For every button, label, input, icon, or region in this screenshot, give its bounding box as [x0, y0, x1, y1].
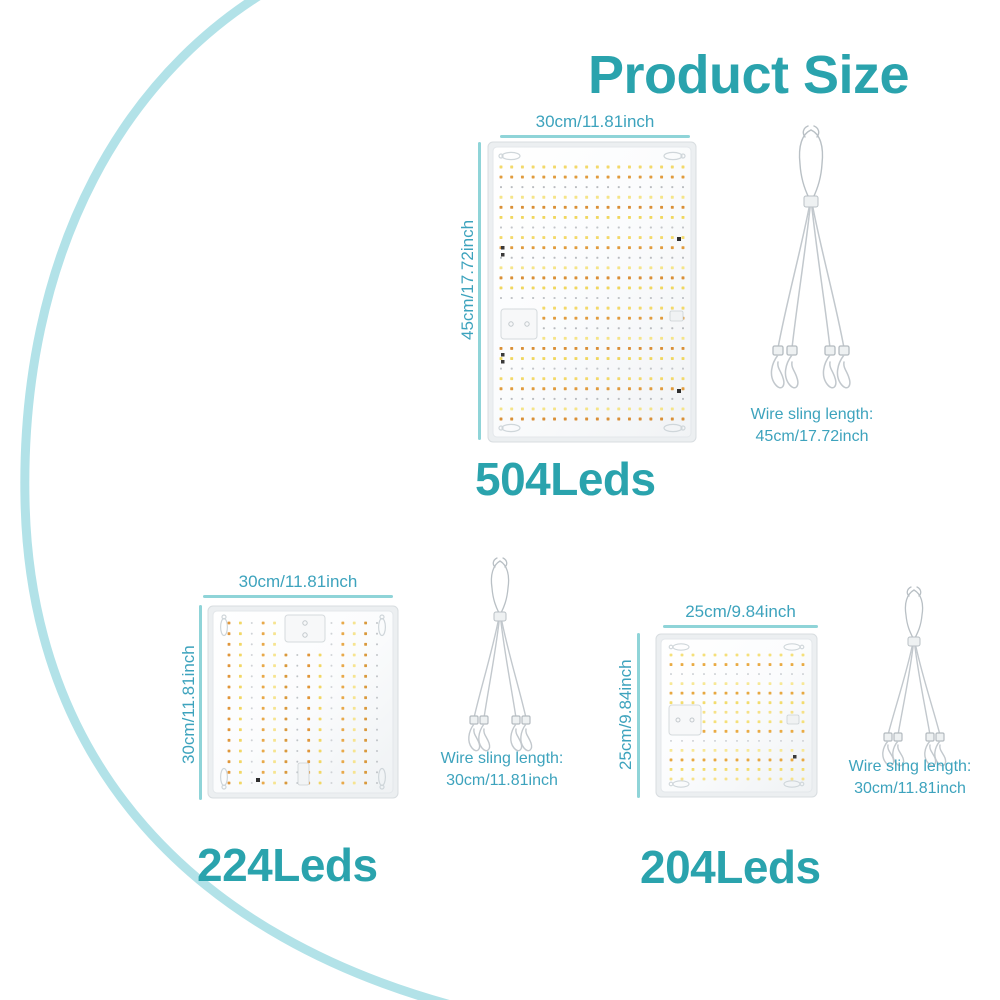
- panel-204-sling-caption: Wire sling length: 30cm/11.81inch: [820, 756, 1000, 799]
- panel-204-height-label: 25cm/9.84inch: [616, 650, 636, 780]
- product-size-infographic: Product Size 30cm/11.81inch 45cm/17.72in…: [0, 0, 1000, 1000]
- wire-sling-icon-224: [452, 556, 548, 756]
- grow-light-panel-icon-504: [487, 141, 697, 443]
- page-title: Product Size: [588, 44, 909, 106]
- panel-504-sling-caption: Wire sling length: 45cm/17.72inch: [712, 404, 912, 447]
- panel-204-height-rule: [637, 633, 640, 798]
- panel-224-sling-caption: Wire sling length: 30cm/11.81inch: [407, 748, 597, 791]
- wire-sling-icon-204: [866, 585, 962, 770]
- panel-224-led-count: 224Leds: [197, 838, 378, 892]
- panel-204-led-count: 204Leds: [640, 840, 821, 894]
- panel-504-height-label: 45cm/17.72inch: [458, 200, 478, 360]
- panel-204-width-rule: [663, 625, 818, 628]
- panel-504-width-label: 30cm/11.81inch: [500, 112, 690, 138]
- panel-504-height-rule: [478, 142, 481, 440]
- panel-504-width-rule: [500, 135, 690, 138]
- grow-light-panel-icon-224: [207, 605, 399, 799]
- panel-204-width-label: 25cm/9.84inch: [663, 602, 818, 628]
- wire-sling-icon-504: [752, 124, 870, 402]
- grow-light-panel-icon-204: [655, 633, 818, 798]
- panel-224-height-rule: [199, 605, 202, 800]
- panel-224-width-label: 30cm/11.81inch: [203, 572, 393, 598]
- panel-224-width-rule: [203, 595, 393, 598]
- panel-224-height-label: 30cm/11.81inch: [179, 625, 199, 785]
- panel-504-led-count: 504Leds: [475, 452, 656, 506]
